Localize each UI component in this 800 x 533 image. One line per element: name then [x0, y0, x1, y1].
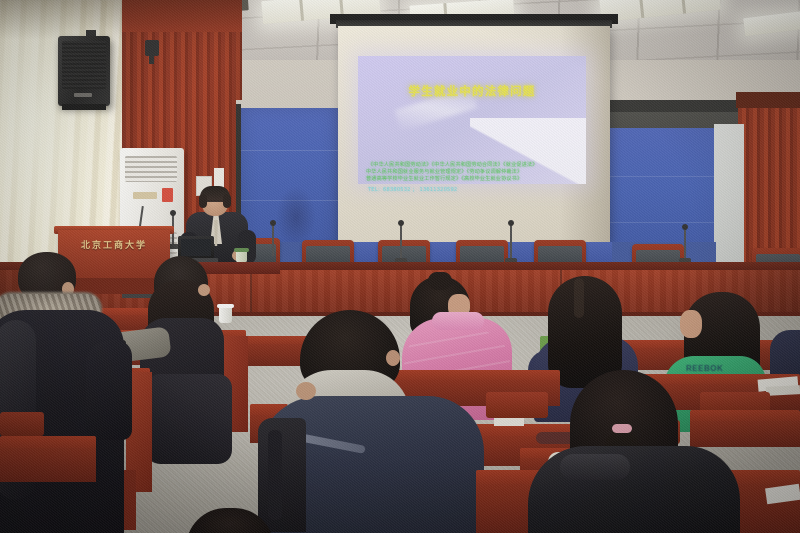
student-navy-hood-ear — [386, 350, 400, 366]
student-pink-puffer-ponytail — [428, 272, 452, 290]
hair-tie — [612, 424, 632, 433]
microphone-icon — [272, 224, 274, 256]
student-black-coat-hand — [198, 284, 210, 296]
slide-title: 学生就业中的法律问题 — [358, 83, 586, 99]
wood-panel-wall-right-top — [736, 92, 800, 108]
presenter-glasses-icon — [205, 200, 225, 206]
jacket-collar — [560, 454, 630, 480]
microphone-icon — [400, 224, 402, 262]
panel-seam — [604, 222, 714, 223]
speaker-base — [62, 104, 106, 110]
slide-body-line: 普通高等学校毕业生就业工作暂行规定》《高校毕业生就业协议书》 — [366, 175, 522, 182]
panel-shadow — [276, 186, 316, 248]
student-fur-hood-arm — [86, 340, 132, 440]
ceiling-camera-icon — [145, 40, 159, 56]
camera-mount — [149, 56, 154, 64]
backpack-strap — [268, 430, 282, 520]
student-green-jacket-face — [680, 310, 702, 338]
wood-panel-wall-left-top — [122, 0, 242, 32]
microphone-icon — [510, 224, 512, 262]
microphone-icon — [684, 228, 686, 262]
air-conditioner-label — [133, 192, 157, 199]
head-table-seam — [250, 270, 252, 316]
slide-contact-line: TEL：68380532 ； 13611320592 — [368, 186, 457, 193]
slide-body-line: 中华人民共和国就业服务与就业管理规定》《劳动争议调解仲裁法》 — [366, 168, 522, 175]
panel-seam — [604, 176, 714, 177]
hair-highlight — [574, 278, 584, 318]
paper-cup — [219, 306, 232, 323]
paper-cup-rim — [217, 304, 234, 308]
slide-body-line: 《中华人民共和国劳动法》《中华人民共和国劳动合同法》《就业促进法》 — [368, 161, 538, 168]
grey-wall-panel — [714, 124, 744, 264]
speaker-badge — [74, 93, 92, 97]
student-navy-hood-hand — [296, 382, 316, 400]
bottle-cap — [234, 248, 249, 252]
backpack — [258, 418, 306, 532]
speaker-grille — [62, 41, 106, 89]
panel-top-edge — [236, 100, 342, 108]
audience-desk-front — [0, 448, 96, 482]
audience-desk-front — [690, 421, 800, 447]
student-black-coat-skirt — [146, 374, 232, 464]
panel-seam — [240, 150, 338, 151]
podium-university-sign: 北京工商大学 — [62, 238, 166, 251]
student-black-jacket — [528, 446, 740, 533]
curtain-top-shadow — [0, 0, 124, 40]
audience-chair-back[interactable] — [0, 412, 44, 436]
audience-chair-back[interactable] — [486, 392, 548, 418]
laptop-screen — [181, 239, 211, 256]
air-conditioner-sticker — [162, 188, 173, 202]
air-conditioner-vent — [125, 156, 177, 182]
jacket-print-line-1: REEBOK — [686, 364, 723, 373]
lecture-hall-photo: 学生就业中的法律问题 《中华人民共和国劳动法》《中华人民共和国劳动合同法》《就业… — [0, 0, 800, 533]
notebook-papers — [766, 385, 800, 396]
puffer-collar — [432, 312, 484, 330]
notebook-papers — [494, 418, 524, 426]
